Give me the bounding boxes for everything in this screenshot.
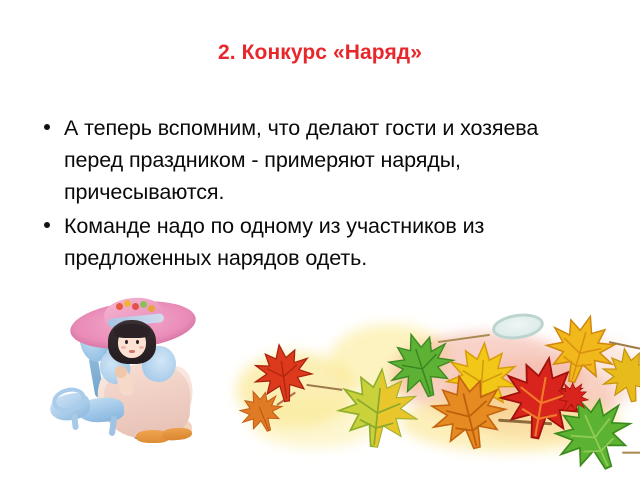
list-item: А теперь вспомним, что делают гости и хо… [42, 112, 598, 208]
list-item-text: А теперь вспомним, что делают гости и хо… [64, 116, 538, 204]
bullet-dot-icon [44, 222, 50, 228]
autumn-leaves-image [0, 296, 640, 480]
bullet-list: А теперь вспомним, что делают гости и хо… [42, 112, 598, 276]
maple-leaf-icon [248, 338, 318, 408]
page-title: 2. Конкурс «Наряд» [0, 40, 640, 66]
slide-artwork [0, 296, 640, 480]
bullet-dot-icon [44, 124, 50, 130]
list-item-text: Команде надо по одному из участников из … [64, 214, 484, 270]
presentation-slide: 2. Конкурс «Наряд» А теперь вспомним, чт… [0, 0, 640, 480]
list-item: Команде надо по одному из участников из … [42, 210, 598, 274]
